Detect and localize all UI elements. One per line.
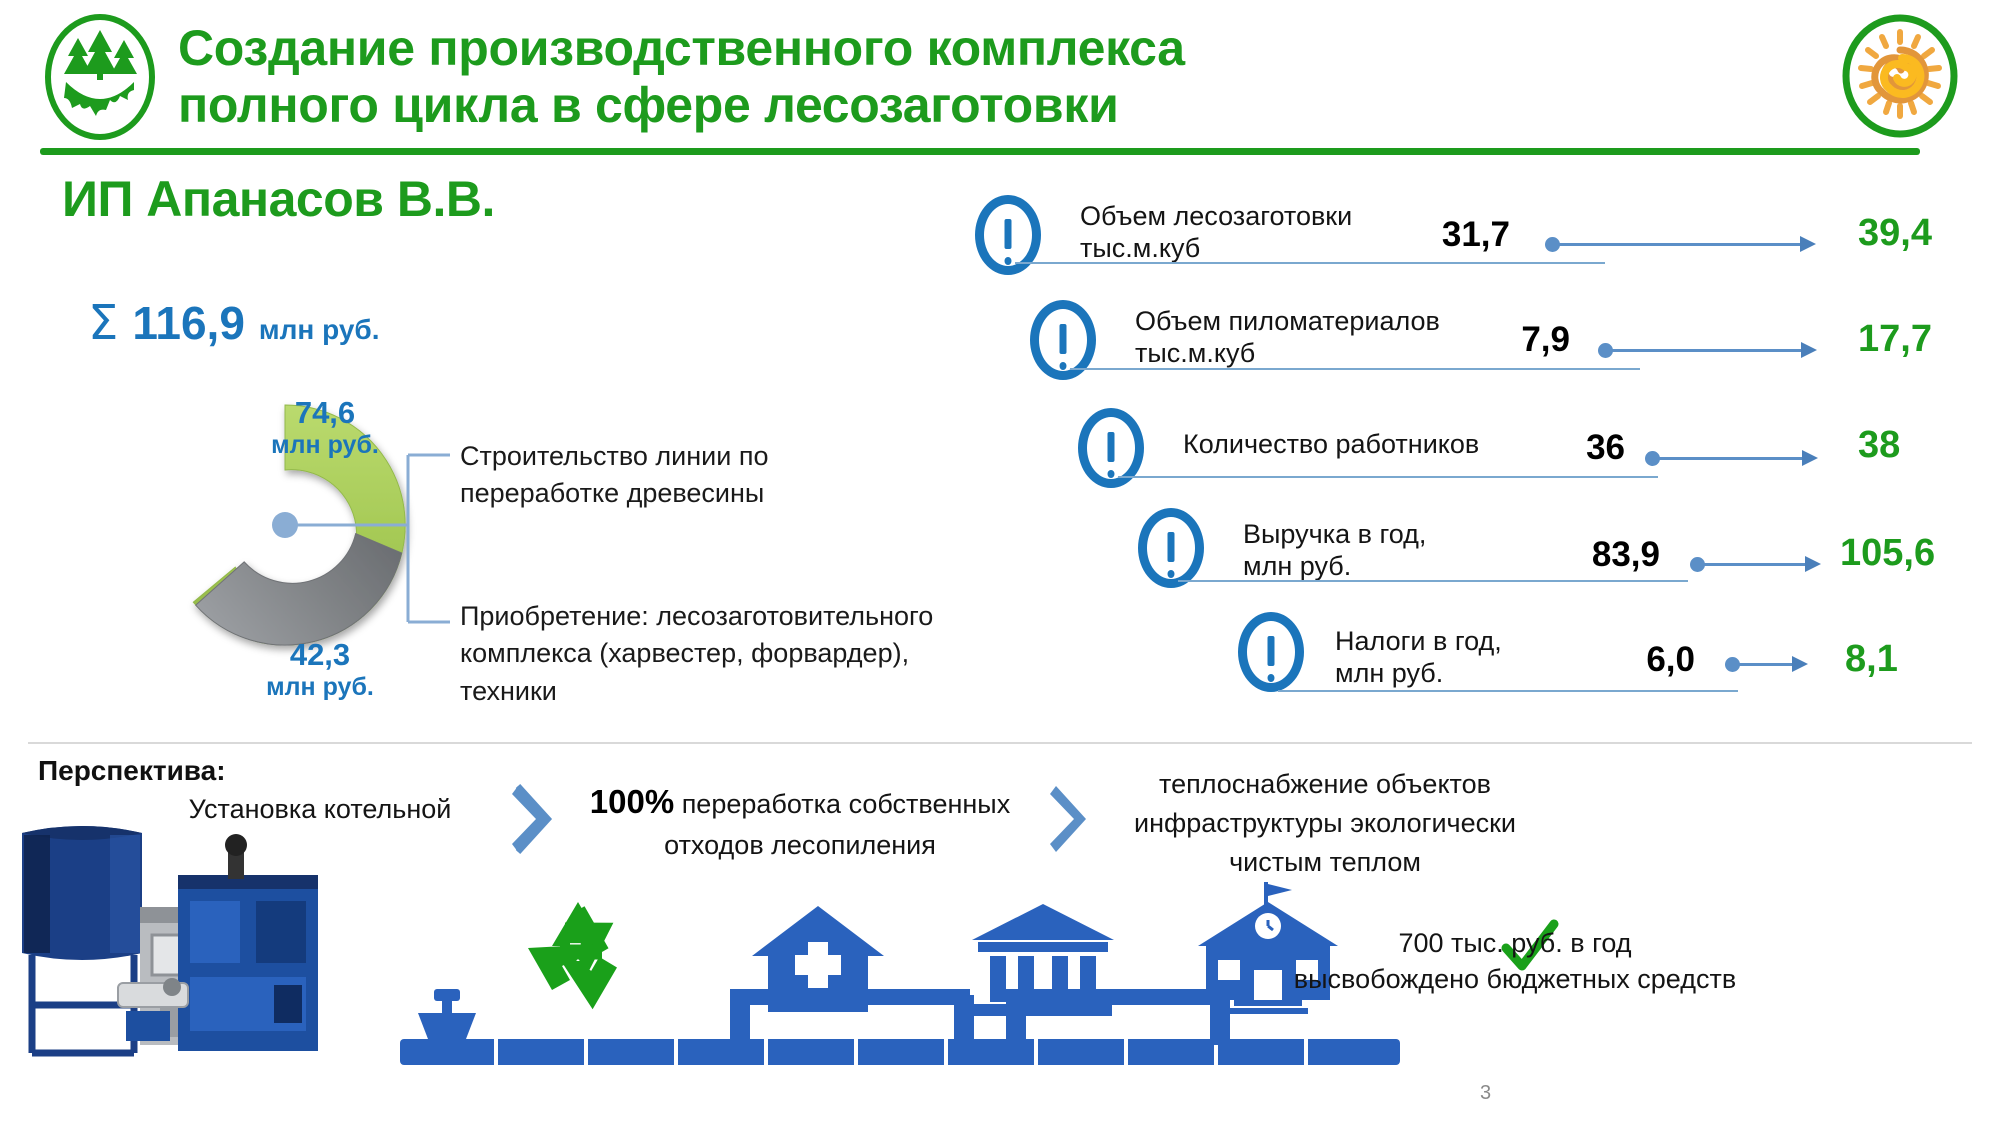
kpi-underline <box>1015 262 1605 264</box>
arrow-shaft <box>1555 243 1805 246</box>
budget-savings-note: 700 тыс. руб. в год высвобождено бюджетн… <box>1165 925 1865 998</box>
donut-label-construction: 74,6 млн руб. <box>230 396 420 459</box>
kpi-label-line1: Выручка в год, <box>1243 518 1523 550</box>
kpi-label-line1: Объем лесозаготовки <box>1080 200 1410 232</box>
kpi-target-value: 17,7 <box>1858 318 1932 361</box>
total-investment: Σ 116,9 млн руб. <box>88 296 379 350</box>
kpi-current-value: 7,9 <box>1470 320 1570 360</box>
kpi-current-value: 31,7 <box>1400 215 1510 255</box>
donut-value-construction: 74,6 <box>230 396 420 431</box>
kpi-current-value: 36 <box>1545 428 1625 468</box>
arrow-head-icon <box>1800 236 1816 252</box>
exclamation-icon <box>1138 508 1204 588</box>
kpi-underline <box>1118 476 1658 478</box>
kpi-label-line1: Объем пиломатериалов <box>1135 305 1485 337</box>
donut-unit-acquisition: млн руб. <box>220 673 420 701</box>
perspective-step-2: 100% переработка собственных отходов лес… <box>570 778 1030 865</box>
arrow-shaft <box>1700 563 1810 566</box>
page-number: 3 <box>1480 1082 1491 1105</box>
donut-legend-acquisition: Приобретение: лесозаготовительного компл… <box>460 598 980 710</box>
kpi-label-line2: тыс.м.куб <box>1135 337 1485 369</box>
savings-line2: высвобождено бюджетных средств <box>1165 961 1865 997</box>
sigma-icon: Σ <box>88 299 118 347</box>
kpi-label: Выручка в год, млн руб. <box>1243 518 1523 583</box>
kpi-underline <box>1278 690 1738 692</box>
total-investment-value: 116,9 <box>132 296 245 350</box>
kpi-underline <box>1070 368 1640 370</box>
hospital-building-icon <box>748 900 888 1025</box>
kpi-progress-arrow <box>1598 338 1858 356</box>
kpi-label-line2: тыс.м.куб <box>1080 232 1410 264</box>
arrow-shaft <box>1735 663 1797 666</box>
kpi-current-value: 6,0 <box>1585 640 1695 680</box>
kpi-underline <box>1178 580 1688 582</box>
kpi-label-line2: млн руб. <box>1335 657 1585 689</box>
forest-saw-logo <box>40 12 160 142</box>
perspective-step-2-text: переработка собственных отходов лесопиле… <box>664 789 1010 860</box>
company-name: ИП Апанасов В.В. <box>62 170 495 228</box>
kpi-progress-arrow <box>1725 652 1855 670</box>
kpi-label: Налоги в год, млн руб. <box>1335 625 1585 690</box>
kpi-label-line1: Налоги в год, <box>1335 625 1585 657</box>
recycle-icon <box>498 890 658 1025</box>
slide-header: Создание производственного комплекса пол… <box>0 0 2000 160</box>
total-investment-unit: млн руб. <box>259 314 380 346</box>
donut-label-acquisition: 42,3 млн руб. <box>220 638 420 701</box>
sun-spiral-logo <box>1838 12 1963 140</box>
kpi-target-value: 8,1 <box>1845 638 1898 681</box>
exclamation-icon <box>1238 612 1304 692</box>
boiler-equipment-illustration <box>10 815 430 1080</box>
government-building-icon <box>968 900 1118 1025</box>
header-divider <box>40 148 1920 155</box>
arrow-head-icon <box>1805 556 1821 572</box>
kpi-target-value: 39,4 <box>1858 212 1932 255</box>
recycle-percent: 100% <box>590 783 674 820</box>
donut-unit-construction: млн руб. <box>230 431 420 459</box>
kpi-label-line2: млн руб. <box>1243 550 1523 582</box>
arrow-head-icon <box>1802 450 1818 466</box>
arrow-shaft <box>1608 349 1806 352</box>
donut-legend-construction: Строительство линии по переработке древе… <box>460 438 880 513</box>
kpi-label: Количество работников <box>1183 428 1523 460</box>
chevron-right-icon <box>510 782 556 856</box>
kpi-progress-arrow <box>1645 446 1860 464</box>
kpi-label: Объем пиломатериалов тыс.м.куб <box>1135 305 1485 370</box>
donut-value-acquisition: 42,3 <box>220 638 420 673</box>
page-title-line2: полного цикла в сфере лесозаготовки <box>178 77 1798 134</box>
kpi-label-line1: Количество работников <box>1183 428 1523 460</box>
chevron-right-icon <box>1048 782 1094 856</box>
kpi-current-value: 83,9 <box>1530 535 1660 575</box>
arrow-shaft <box>1655 457 1807 460</box>
page-title: Создание производственного комплекса пол… <box>178 20 1798 133</box>
kpi-progress-arrow <box>1545 232 1845 250</box>
arrow-head-icon <box>1801 342 1817 358</box>
page-title-line1: Создание производственного комплекса <box>178 20 1798 77</box>
section-divider <box>28 742 1972 744</box>
kpi-progress-arrow <box>1690 552 1865 570</box>
kpi-target-value: 105,6 <box>1840 532 1935 575</box>
kpi-label: Объем лесозаготовки тыс.м.куб <box>1080 200 1410 265</box>
slide-root: Создание производственного комплекса пол… <box>0 0 2000 1125</box>
perspective-step-3: теплоснабжение объектов инфраструктуры э… <box>1110 765 1540 882</box>
perspective-title: Перспектива: <box>38 755 226 787</box>
arrow-head-icon <box>1792 656 1808 672</box>
savings-line1: 700 тыс. руб. в год <box>1165 925 1865 961</box>
kpi-target-value: 38 <box>1858 424 1900 467</box>
